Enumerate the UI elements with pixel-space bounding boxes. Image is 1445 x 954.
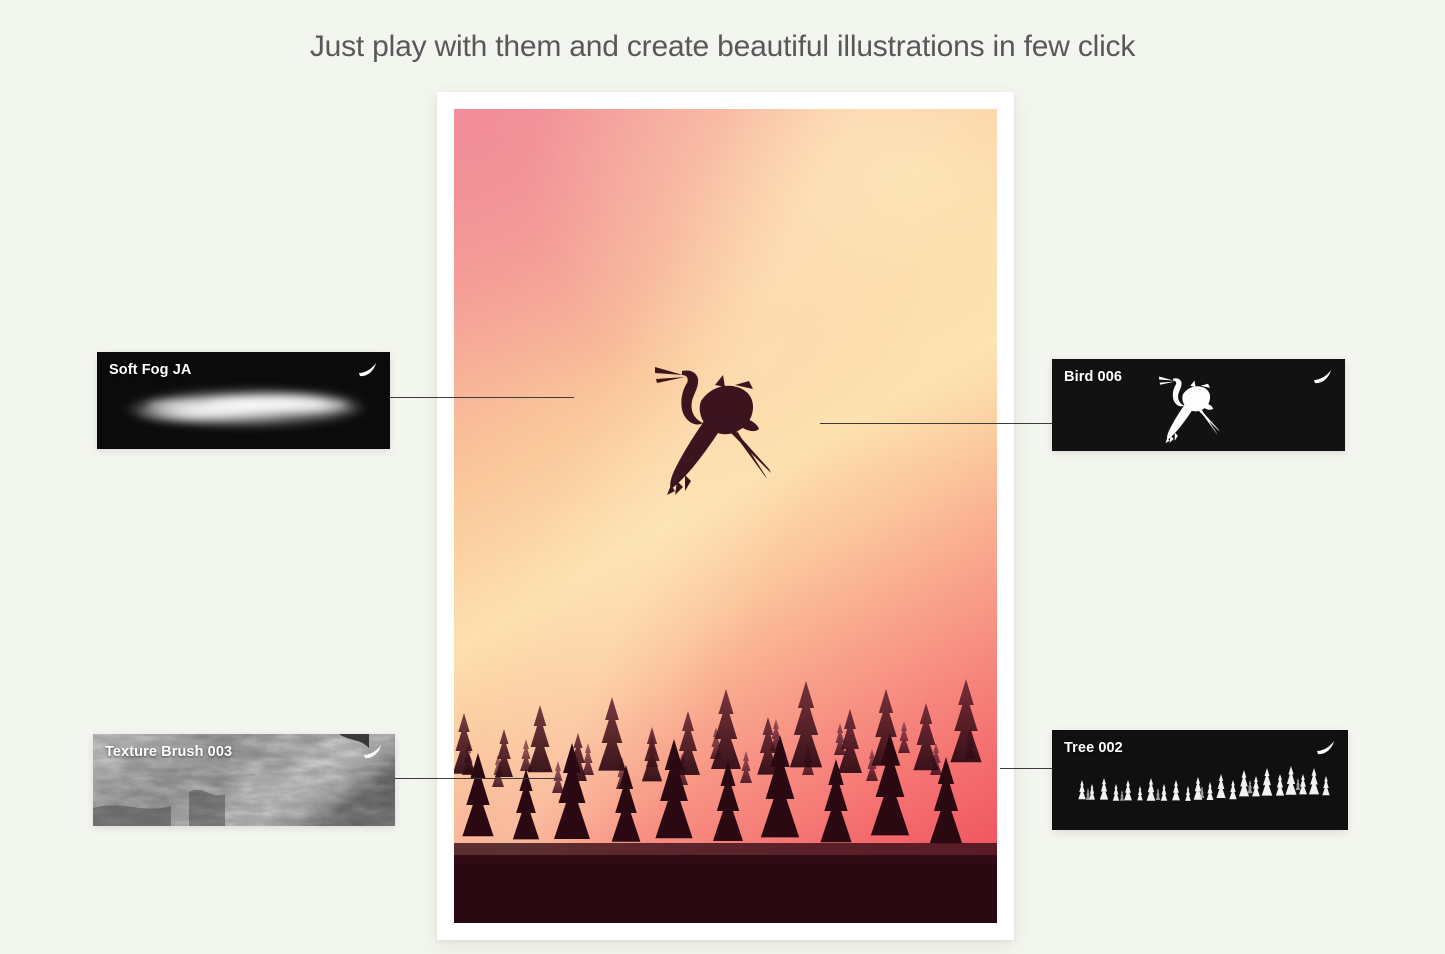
heron-silhouette <box>649 345 789 505</box>
brush-card-label: Soft Fog JA <box>109 362 191 378</box>
brush-stroke-icon <box>363 743 383 761</box>
brush-card-label: Tree 002 <box>1064 740 1123 756</box>
poster-frame <box>437 92 1014 940</box>
brush-card-bird[interactable]: Bird 006 <box>1052 359 1345 451</box>
brush-stroke-icon <box>358 361 378 379</box>
brush-card-label: Bird 006 <box>1064 369 1122 385</box>
brush-card-soft-fog[interactable]: Soft Fog JA <box>97 352 390 449</box>
connector-line-soft-fog <box>372 397 574 398</box>
brush-card-texture[interactable]: Texture Brush 003 <box>93 734 395 826</box>
forest-illustration <box>454 593 997 923</box>
brush-stroke-icon <box>1316 739 1336 757</box>
page-title: Just play with them and create beautiful… <box>0 30 1445 64</box>
poster-artwork <box>454 109 997 923</box>
brush-card-tree[interactable]: Tree 002 <box>1052 730 1348 830</box>
brush-stroke-icon <box>1313 368 1333 386</box>
connector-line-bird <box>820 423 1055 424</box>
connector-line-tree <box>1000 768 1055 769</box>
brush-card-label: Texture Brush 003 <box>105 744 232 760</box>
